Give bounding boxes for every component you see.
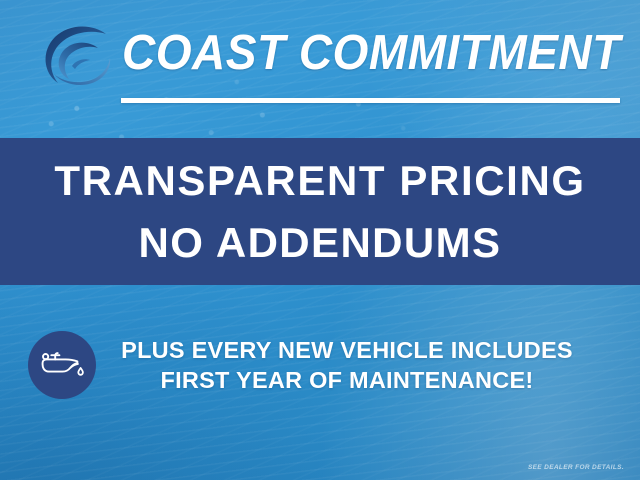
coast-wave-logo-icon [34,22,118,96]
promo-icon-badge [28,331,96,399]
headline-band: TRANSPARENT PRICING NO ADDENDUMS [0,138,640,285]
oil-can-icon [39,346,85,385]
coast-commitment-banner: COAST COMMITMENT TRANSPARENT PRICING NO … [0,0,640,480]
headline-line-2: NO ADDENDUMS [139,212,502,274]
banner-header: COAST COMMITMENT [0,0,640,138]
promo-line-2: FIRST YEAR OF MAINTENANCE! [96,365,598,395]
promo-row: PLUS EVERY NEW VEHICLE INCLUDES FIRST YE… [0,320,640,410]
promo-text-block: PLUS EVERY NEW VEHICLE INCLUDES FIRST YE… [96,335,640,395]
promo-line-1: PLUS EVERY NEW VEHICLE INCLUDES [96,335,598,365]
brand-title: COAST COMMITMENT [122,24,592,82]
header-divider [121,98,620,103]
headline-line-1: TRANSPARENT PRICING [54,150,585,212]
disclaimer-text: SEE DEALER FOR DETAILS. [528,464,624,471]
